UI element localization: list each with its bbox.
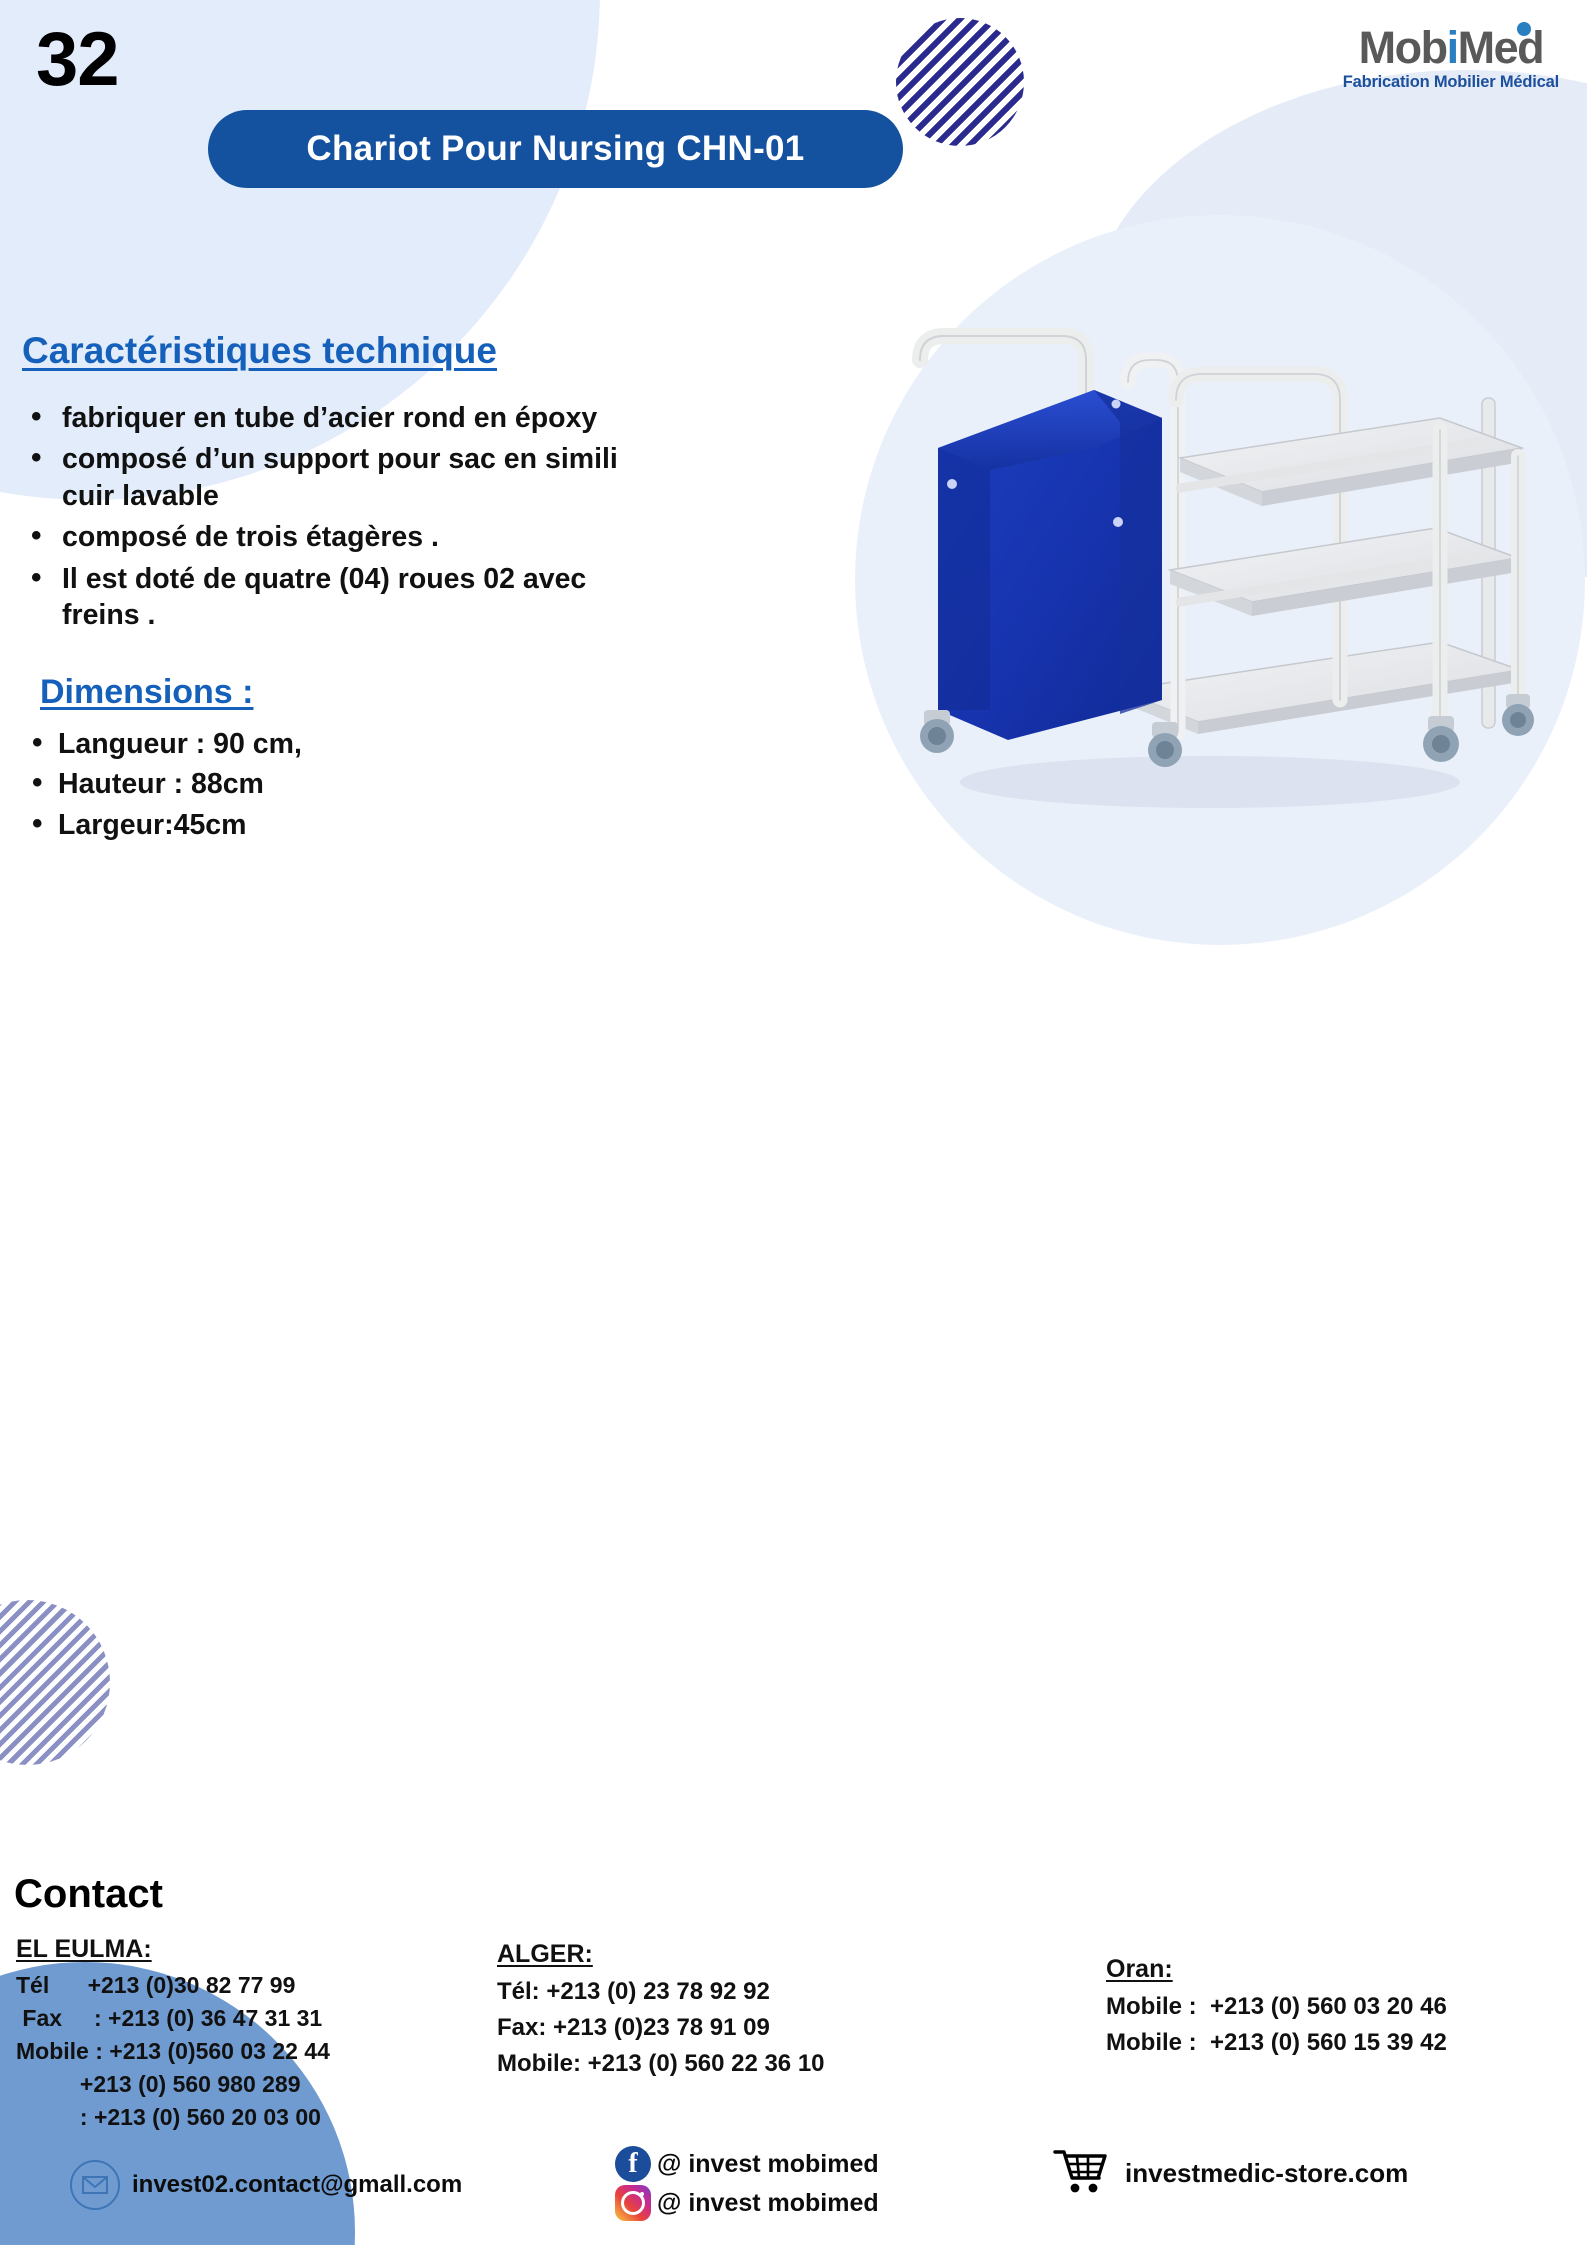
store-website[interactable]: investmedic-store.com: [1125, 2158, 1408, 2189]
caster-wheel: [1148, 722, 1182, 767]
facebook-handle[interactable]: @ invest mobimed: [657, 2150, 879, 2179]
contact-city-name: EL EULMA:: [16, 1935, 152, 1964]
brand-tagline: Fabrication Mobilier Médical: [1343, 74, 1559, 91]
brand-logo-wordmark: MobiMed: [1359, 25, 1543, 70]
product-image-nursing-trolley: [880, 270, 1560, 830]
dimensions-list: Langueur : 90 cm, Hauteur : 88cm Largeur…: [18, 724, 618, 845]
contact-mobile-line: Mobile: +213 (0) 560 22 36 10: [497, 2046, 825, 2082]
contact-fax-line: Fax : +213 (0) 36 47 31 31: [16, 2002, 330, 2035]
caster-wheel: [920, 710, 954, 753]
contact-column-oran: Oran: Mobile : +213 (0) 560 03 20 46 Mob…: [1106, 1955, 1447, 2062]
contact-heading: Contact: [14, 1872, 163, 1917]
brand-logo-part1: Mob: [1359, 22, 1447, 73]
instagram-icon: [615, 2185, 651, 2221]
envelope-icon: [70, 2160, 120, 2210]
contact-column-alger: ALGER: Tél: +213 (0) 23 78 92 92 Fax: +2…: [497, 1940, 825, 2082]
contact-mobile-line: : +213 (0) 560 20 03 00: [16, 2101, 330, 2134]
contact-mobile-line: +213 (0) 560 980 289: [16, 2068, 330, 2101]
list-item: Langueur : 90 cm,: [58, 724, 618, 764]
caster-wheel: [1502, 694, 1534, 736]
brand-logo-person-head-icon: [1517, 22, 1531, 36]
list-item: fabriquer en tube d’acier rond en époxy: [58, 400, 618, 436]
facebook-row[interactable]: f @ invest mobimed: [615, 2146, 879, 2182]
specifications-heading: Caractéristiques technique: [18, 330, 618, 372]
striped-circle-decoration-bottom: [0, 1600, 110, 1765]
dimensions-heading: Dimensions :: [40, 673, 253, 712]
contact-email[interactable]: invest02.contact@gmall.com: [132, 2171, 462, 2199]
list-item: composé d’un support pour sac en simili …: [58, 441, 618, 514]
contact-city-name: Oran:: [1106, 1955, 1173, 1984]
list-item: Il est doté de quatre (04) roues 02 avec…: [58, 561, 618, 634]
contact-mobile-line: Mobile : +213 (0)560 03 22 44: [16, 2035, 330, 2068]
specifications-section: Caractéristiques technique fabriquer en …: [18, 330, 618, 845]
page-number: 32: [36, 16, 119, 103]
contact-city-name: ALGER:: [497, 1940, 593, 1969]
specifications-list: fabriquer en tube d’acier rond en époxy …: [18, 400, 618, 634]
social-links: f @ invest mobimed @ invest mobimed: [615, 2146, 879, 2224]
product-title-banner: Chariot Pour Nursing CHN-01: [208, 110, 903, 188]
list-item: composé de trois étagères .: [58, 519, 618, 555]
contact-mobile-line: Mobile : +213 (0) 560 15 39 42: [1106, 2025, 1447, 2061]
brand-logo-letter-i: i: [1447, 22, 1458, 73]
list-item: Hauteur : 88cm: [58, 764, 618, 804]
contact-phone-line: Tél: +213 (0) 23 78 92 92: [497, 1974, 825, 2010]
facebook-icon: f: [615, 2146, 651, 2182]
contact-mobile-line: Mobile : +213 (0) 560 03 20 46: [1106, 1989, 1447, 2025]
list-item: Largeur:45cm: [58, 805, 618, 845]
shopping-cart-icon: [1053, 2148, 1109, 2199]
contact-phone-line: Tél +213 (0)30 82 77 99: [16, 1969, 330, 2002]
instagram-row[interactable]: @ invest mobimed: [615, 2185, 879, 2221]
caster-wheel: [1423, 716, 1459, 762]
brand-logo: MobiMed Fabrication Mobilier Médical: [1343, 25, 1559, 91]
instagram-handle[interactable]: @ invest mobimed: [657, 2189, 879, 2218]
page-title: Chariot Pour Nursing CHN-01: [306, 129, 804, 169]
contact-email-row[interactable]: invest02.contact@gmall.com: [70, 2160, 462, 2210]
contact-fax-line: Fax: +213 (0)23 78 91 09: [497, 2010, 825, 2046]
contact-column-el-eulma: EL EULMA: Tél +213 (0)30 82 77 99 Fax : …: [16, 1935, 330, 2133]
online-store-row[interactable]: investmedic-store.com: [1053, 2148, 1408, 2199]
catalog-page: 32 MobiMed Fabrication Mobilier Médical …: [0, 0, 1587, 2245]
striped-circle-decoration-top: [896, 18, 1024, 146]
